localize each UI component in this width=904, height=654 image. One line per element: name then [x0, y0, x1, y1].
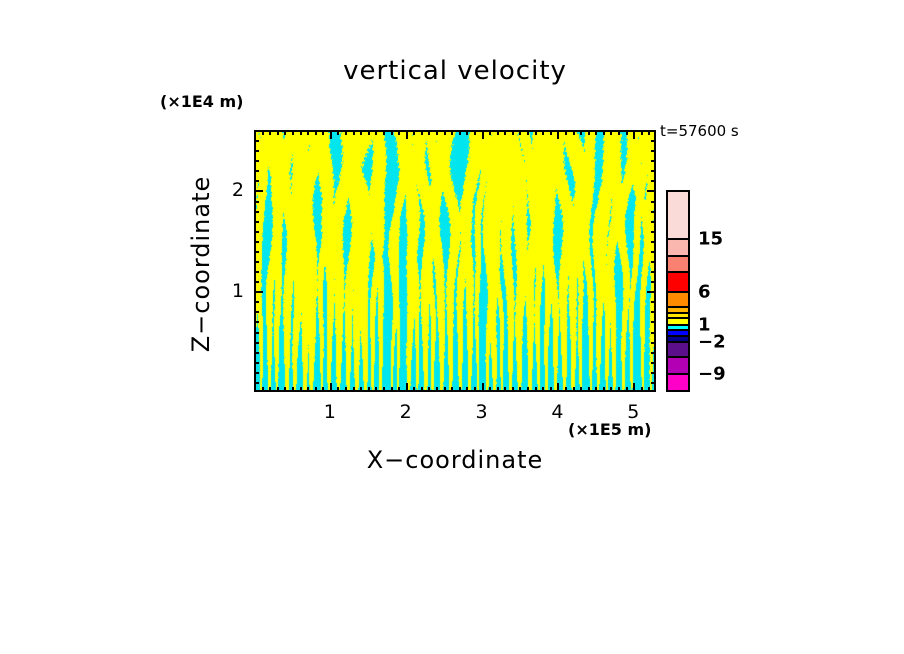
x-tick-mark — [307, 387, 309, 392]
x-tick-mark-top — [557, 130, 559, 139]
x-tick-mark — [633, 383, 635, 392]
colorbar-band-divider — [668, 271, 688, 273]
y-tick-mark-right — [651, 352, 656, 354]
y-tick-mark — [254, 201, 259, 203]
x-tick-mark-top — [284, 130, 286, 135]
y-tick-mark — [254, 362, 259, 364]
x-tick-mark — [474, 387, 476, 392]
x-tick-mark-top — [641, 130, 643, 135]
y-tick-mark — [254, 261, 259, 263]
y-tick-mark-right — [651, 221, 656, 223]
x-tick-mark — [512, 387, 514, 392]
y-tick-mark-right — [651, 382, 656, 384]
x-tick-mark — [436, 387, 438, 392]
y-tick-mark-right — [647, 291, 656, 293]
x-tick-mark — [406, 383, 408, 392]
y-tick-mark — [254, 180, 259, 182]
y-tick-mark — [254, 140, 259, 142]
x-tick-mark — [322, 387, 324, 392]
x-tick-mark — [610, 387, 612, 392]
x-tick-mark-top — [391, 130, 393, 135]
colorbar-band-divider — [668, 291, 688, 293]
colorbar-band-divider — [668, 324, 688, 326]
y-tick-mark-right — [651, 231, 656, 233]
x-tick-mark — [497, 387, 499, 392]
y-tick-mark — [254, 321, 259, 323]
y-tick-mark-right — [651, 241, 656, 243]
x-tick-mark — [565, 387, 567, 392]
x-tick-mark-top — [375, 130, 377, 135]
x-tick-mark — [421, 387, 423, 392]
x-tick-mark-top — [535, 130, 537, 135]
y-tick-mark-right — [651, 332, 656, 334]
colorbar-band-divider — [668, 341, 688, 343]
y-tick-mark-right — [651, 311, 656, 313]
y-tick-mark-right — [651, 201, 656, 203]
colorbar-tick-label: 15 — [698, 229, 723, 250]
y-tick-mark — [254, 332, 259, 334]
x-tick-mark — [337, 387, 339, 392]
y-tick-mark — [254, 211, 259, 213]
x-tick-mark-top — [269, 130, 271, 135]
x-tick-mark — [482, 383, 484, 392]
colorbar-band — [668, 192, 688, 239]
x-tick-mark-top — [466, 130, 468, 135]
x-tick-mark-top — [519, 130, 521, 135]
x-tick-mark — [391, 387, 393, 392]
x-tick-label: 3 — [476, 401, 488, 423]
x-tick-mark — [353, 387, 355, 392]
x-tick-mark — [383, 387, 385, 392]
x-tick-mark — [444, 387, 446, 392]
colorbar-band-divider — [668, 335, 688, 337]
x-tick-mark-top — [482, 130, 484, 139]
x-tick-mark — [277, 387, 279, 392]
y-tick-mark-right — [651, 251, 656, 253]
x-tick-mark — [489, 387, 491, 392]
y-tick-mark — [254, 170, 259, 172]
y-tick-mark-right — [651, 140, 656, 142]
x-tick-mark — [413, 387, 415, 392]
y-tick-mark-right — [651, 342, 656, 344]
x-tick-mark — [292, 387, 294, 392]
x-tick-mark — [573, 387, 575, 392]
x-tick-mark-top — [300, 130, 302, 135]
x-tick-mark-top — [504, 130, 506, 135]
y-tick-mark-right — [651, 372, 656, 374]
x-tick-mark — [330, 383, 332, 392]
y-tick-label: 2 — [220, 179, 244, 201]
x-tick-mark — [535, 387, 537, 392]
y-tick-mark-right — [651, 180, 656, 182]
x-tick-mark — [504, 387, 506, 392]
y-tick-mark — [254, 372, 259, 374]
y-tick-label: 1 — [220, 280, 244, 302]
x-tick-mark-top — [322, 130, 324, 135]
x-tick-mark-top — [573, 130, 575, 135]
y-tick-mark — [254, 342, 259, 344]
y-axis-unit-label: (×1E4 m) — [160, 92, 243, 111]
y-tick-mark — [254, 160, 259, 162]
x-tick-mark-top — [262, 130, 264, 135]
x-tick-mark-top — [398, 130, 400, 135]
x-tick-mark-top — [610, 130, 612, 135]
x-tick-mark — [641, 387, 643, 392]
x-tick-mark — [550, 387, 552, 392]
x-tick-mark — [618, 387, 620, 392]
x-tick-mark — [262, 387, 264, 392]
x-tick-mark-top — [368, 130, 370, 135]
x-tick-mark-top — [497, 130, 499, 135]
y-tick-mark — [254, 291, 263, 293]
x-tick-mark-top — [474, 130, 476, 135]
x-tick-mark — [626, 387, 628, 392]
colorbar — [666, 190, 690, 392]
colorbar-band-divider — [668, 329, 688, 331]
y-tick-mark — [254, 251, 259, 253]
x-tick-mark — [603, 387, 605, 392]
x-tick-mark — [368, 387, 370, 392]
y-tick-mark-right — [651, 301, 656, 303]
x-tick-mark — [580, 387, 582, 392]
x-tick-mark-top — [618, 130, 620, 135]
colorbar-band — [668, 374, 688, 390]
colorbar-band — [668, 272, 688, 292]
x-tick-mark — [269, 387, 271, 392]
x-tick-mark — [588, 387, 590, 392]
y-tick-mark — [254, 241, 259, 243]
colorbar-band-divider — [668, 317, 688, 319]
x-tick-mark-top — [626, 130, 628, 135]
colorbar-band — [668, 256, 688, 272]
x-tick-mark-top — [277, 130, 279, 135]
x-tick-mark — [315, 387, 317, 392]
x-tick-mark-top — [413, 130, 415, 135]
x-tick-mark — [428, 387, 430, 392]
x-tick-mark — [360, 387, 362, 392]
colorbar-tick-label: −2 — [698, 331, 726, 352]
x-axis-unit-label: (×1E5 m) — [568, 420, 651, 439]
x-tick-mark — [459, 387, 461, 392]
x-tick-mark-top — [330, 130, 332, 139]
x-axis-title: X−coordinate — [254, 446, 656, 474]
x-tick-mark-top — [428, 130, 430, 135]
figure-canvas: vertical velocity (×1E4 m) t=57600 s Z−c… — [0, 0, 904, 654]
velocity-field-image — [256, 132, 654, 390]
colorbar-band-divider — [668, 306, 688, 308]
x-tick-mark-top — [565, 130, 567, 135]
colorbar-band-divider — [668, 255, 688, 257]
y-tick-mark — [254, 221, 259, 223]
x-tick-mark — [542, 387, 544, 392]
x-tick-mark — [595, 387, 597, 392]
x-tick-mark-top — [345, 130, 347, 135]
x-tick-mark — [527, 387, 529, 392]
x-tick-mark-top — [459, 130, 461, 135]
y-tick-mark — [254, 301, 259, 303]
x-tick-mark-top — [527, 130, 529, 135]
colorbar-band-divider — [668, 312, 688, 314]
x-tick-mark-top — [512, 130, 514, 135]
x-tick-mark — [451, 387, 453, 392]
x-tick-mark-top — [436, 130, 438, 135]
colorbar-tick-label: −9 — [698, 363, 726, 384]
x-tick-mark-top — [383, 130, 385, 135]
x-tick-mark-top — [421, 130, 423, 135]
page-title: vertical velocity — [254, 56, 656, 86]
x-tick-label: 2 — [400, 401, 412, 423]
x-tick-mark-top — [588, 130, 590, 135]
x-tick-mark-top — [595, 130, 597, 135]
y-tick-mark — [254, 231, 259, 233]
y-tick-mark-right — [651, 150, 656, 152]
x-tick-mark — [519, 387, 521, 392]
time-annotation: t=57600 s — [660, 122, 739, 140]
colorbar-band-divider — [668, 356, 688, 358]
x-tick-mark-top — [406, 130, 408, 139]
y-tick-mark — [254, 281, 259, 283]
x-tick-label: 4 — [551, 401, 563, 423]
x-tick-mark — [648, 387, 650, 392]
colorbar-band — [668, 357, 688, 373]
y-tick-mark — [254, 311, 259, 313]
y-tick-mark-right — [651, 281, 656, 283]
y-tick-mark-right — [651, 362, 656, 364]
x-tick-label: 1 — [324, 401, 336, 423]
x-tick-mark-top — [360, 130, 362, 135]
x-tick-mark-top — [542, 130, 544, 135]
x-tick-mark-top — [489, 130, 491, 135]
colorbar-band — [668, 239, 688, 255]
x-tick-mark — [398, 387, 400, 392]
y-tick-mark — [254, 150, 259, 152]
x-tick-mark — [466, 387, 468, 392]
y-tick-mark-right — [647, 190, 656, 192]
y-axis-title-text: Z−coordinate — [187, 176, 215, 353]
y-axis-title: Z−coordinate — [186, 174, 216, 354]
colorbar-band — [668, 342, 688, 357]
y-tick-mark-right — [651, 211, 656, 213]
x-tick-mark-top — [633, 130, 635, 139]
x-tick-mark-top — [603, 130, 605, 135]
x-tick-mark-top — [451, 130, 453, 135]
x-tick-mark-top — [353, 130, 355, 135]
y-tick-mark-right — [651, 321, 656, 323]
x-tick-mark — [284, 387, 286, 392]
y-tick-mark-right — [651, 261, 656, 263]
x-tick-mark-top — [307, 130, 309, 135]
x-tick-mark-top — [550, 130, 552, 135]
x-tick-mark — [557, 383, 559, 392]
colorbar-band-divider — [668, 238, 688, 240]
x-tick-mark-top — [292, 130, 294, 135]
y-tick-mark — [254, 352, 259, 354]
x-tick-mark-top — [580, 130, 582, 135]
x-tick-mark-top — [444, 130, 446, 135]
x-tick-mark-top — [315, 130, 317, 135]
x-tick-mark-top — [337, 130, 339, 135]
x-tick-mark — [300, 387, 302, 392]
colorbar-band — [668, 292, 688, 307]
y-tick-mark-right — [651, 271, 656, 273]
y-tick-mark — [254, 382, 259, 384]
x-tick-mark-top — [648, 130, 650, 135]
y-tick-mark-right — [651, 160, 656, 162]
plot-area — [254, 130, 656, 392]
y-tick-mark-right — [651, 170, 656, 172]
y-tick-mark — [254, 271, 259, 273]
colorbar-band-divider — [668, 373, 688, 375]
x-tick-mark — [375, 387, 377, 392]
y-tick-mark — [254, 190, 263, 192]
x-tick-mark — [345, 387, 347, 392]
colorbar-tick-label: 6 — [698, 281, 711, 302]
